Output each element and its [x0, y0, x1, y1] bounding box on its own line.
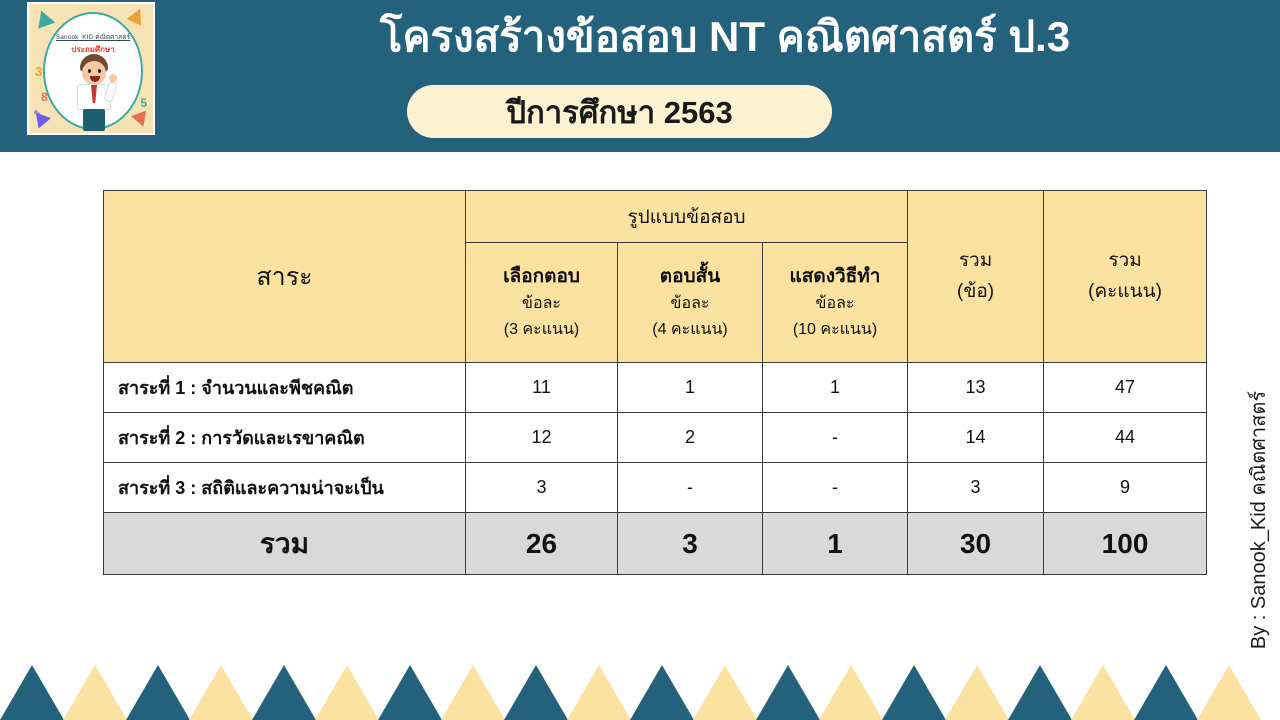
footer-triangle-icon [1008, 665, 1072, 720]
header-multiple-choice: เลือกตอบ ข้อละ (3 คะแนน) [466, 243, 618, 363]
logo-number-3-icon: 3 [35, 64, 42, 79]
author-credit: By : Sanook_Kid คณิตศาสตร์ [1238, 370, 1278, 670]
header-method-line2: ข้อละ [765, 291, 905, 317]
logo-triangle-teal-icon [33, 7, 55, 28]
exam-structure-table-wrapper: สาระ รูปแบบข้อสอบ รวม (ข้อ) รวม (คะแนน) … [103, 190, 1206, 575]
cell-subject: สาระที่ 3 : สถิติและความน่าจะเป็น [104, 463, 466, 513]
cell-multiple-choice: 11 [466, 363, 618, 413]
summary-label: รวม [104, 513, 466, 575]
footer-triangle-icon [1134, 665, 1198, 720]
header-total-score-line2: (คะแนน) [1045, 277, 1205, 307]
cell-subject: สาระที่ 2 : การวัดและเรขาคณิต [104, 413, 466, 463]
author-credit-label: By : Sanook_Kid คณิตศาสตร์ [1242, 391, 1274, 649]
logo-boy-illustration [75, 54, 113, 134]
logo-brand-line1: Sanook_KID คณิตศาสตร์ [29, 32, 155, 42]
footer-triangle-icon [819, 665, 883, 720]
footer-triangle-icon [504, 665, 568, 720]
cell-short-answer: 2 [618, 413, 763, 463]
footer-triangle-icon [1197, 665, 1261, 720]
cell-short-answer: 1 [618, 363, 763, 413]
summary-short-answer: 3 [618, 513, 763, 575]
cell-total-score: 47 [1044, 363, 1207, 413]
header-total-items: รวม (ข้อ) [908, 191, 1044, 363]
header-method-line3: (10 คะแนน) [765, 317, 905, 343]
sanook-kid-logo: 3 8 + ÷ 5 ✎ Sanook_KID คณิตศาสตร์ ประถมศ… [27, 2, 155, 135]
header-method-line1: แสดงวิธีทำ [765, 263, 905, 292]
header-short-line2: ข้อละ [620, 291, 760, 317]
table-header-row-1: สาระ รูปแบบข้อสอบ รวม (ข้อ) รวม (คะแนน) [104, 191, 1207, 243]
cell-show-method: - [763, 413, 908, 463]
footer-triangle-icon [756, 665, 820, 720]
footer-triangle-icon [189, 665, 253, 720]
header-mc-line3: (3 คะแนน) [468, 317, 615, 343]
academic-year-label: ปีการศึกษา 2563 [506, 87, 732, 137]
logo-triangle-coral-icon [131, 111, 151, 130]
header-question-format: รูปแบบข้อสอบ [466, 191, 908, 243]
logo-pencil-icon: ✎ [33, 108, 42, 121]
footer-triangle-icon [1071, 665, 1135, 720]
cell-total-score: 44 [1044, 413, 1207, 463]
footer-triangle-strip [0, 660, 1280, 720]
academic-year-badge: ปีการศึกษา 2563 [407, 85, 832, 138]
header-mc-line2: ข้อละ [468, 291, 615, 317]
footer-triangle-icon [0, 665, 64, 720]
summary-multiple-choice: 26 [466, 513, 618, 575]
cell-show-method: 1 [763, 363, 908, 413]
footer-triangle-icon [441, 665, 505, 720]
header-subject: สาระ [104, 191, 466, 363]
footer-triangle-icon [693, 665, 757, 720]
header-short-line1: ตอบสั้น [620, 263, 760, 292]
cell-short-answer: - [618, 463, 763, 513]
cell-subject: สาระที่ 1 : จำนวนและพีชคณิต [104, 363, 466, 413]
header-band: 3 8 + ÷ 5 ✎ Sanook_KID คณิตศาสตร์ ประถมศ… [0, 0, 1280, 152]
table-row: สาระที่ 3 : สถิติและความน่าจะเป็น 3 - - … [104, 463, 1207, 513]
summary-total-items: 30 [908, 513, 1044, 575]
header-short-answer: ตอบสั้น ข้อละ (4 คะแนน) [618, 243, 763, 363]
footer-triangle-icon [126, 665, 190, 720]
footer-triangle-icon [945, 665, 1009, 720]
footer-triangle-icon [630, 665, 694, 720]
cell-show-method: - [763, 463, 908, 513]
table-row: สาระที่ 1 : จำนวนและพีชคณิต 11 1 1 13 47 [104, 363, 1207, 413]
cell-total-items: 3 [908, 463, 1044, 513]
footer-triangle-icon [63, 665, 127, 720]
footer-triangle-icon [378, 665, 442, 720]
page-title: โครงสร้างข้อสอบ NT คณิตศาสตร์ ป.3 [205, 14, 1245, 59]
header-show-method: แสดงวิธีทำ ข้อละ (10 คะแนน) [763, 243, 908, 363]
slide-canvas: 3 8 + ÷ 5 ✎ Sanook_KID คณิตศาสตร์ ประถมศ… [0, 0, 1280, 720]
header-mc-line1: เลือกตอบ [468, 263, 615, 292]
header-short-line3: (4 คะแนน) [620, 317, 760, 343]
table-summary-row: รวม 26 3 1 30 100 [104, 513, 1207, 575]
cell-multiple-choice: 3 [466, 463, 618, 513]
footer-triangle-icon [567, 665, 631, 720]
cell-total-score: 9 [1044, 463, 1207, 513]
footer-triangle-icon [252, 665, 316, 720]
logo-triangle-orange-icon [127, 5, 148, 25]
summary-show-method: 1 [763, 513, 908, 575]
cell-total-items: 13 [908, 363, 1044, 413]
table-body: สาระที่ 1 : จำนวนและพีชคณิต 11 1 1 13 47… [104, 363, 1207, 575]
header-total-score-line1: รวม [1045, 246, 1205, 276]
header-total-items-line2: (ข้อ) [909, 277, 1042, 307]
footer-triangle-icon [315, 665, 379, 720]
exam-structure-table: สาระ รูปแบบข้อสอบ รวม (ข้อ) รวม (คะแนน) … [103, 190, 1207, 575]
footer-triangle-icon [882, 665, 946, 720]
table-head: สาระ รูปแบบข้อสอบ รวม (ข้อ) รวม (คะแนน) … [104, 191, 1207, 363]
table-row: สาระที่ 2 : การวัดและเรขาคณิต 12 2 - 14 … [104, 413, 1207, 463]
header-total-score: รวม (คะแนน) [1044, 191, 1207, 363]
header-total-items-line1: รวม [909, 246, 1042, 276]
summary-total-score: 100 [1044, 513, 1207, 575]
cell-total-items: 14 [908, 413, 1044, 463]
logo-number-5-icon: 5 [140, 96, 147, 110]
cell-multiple-choice: 12 [466, 413, 618, 463]
